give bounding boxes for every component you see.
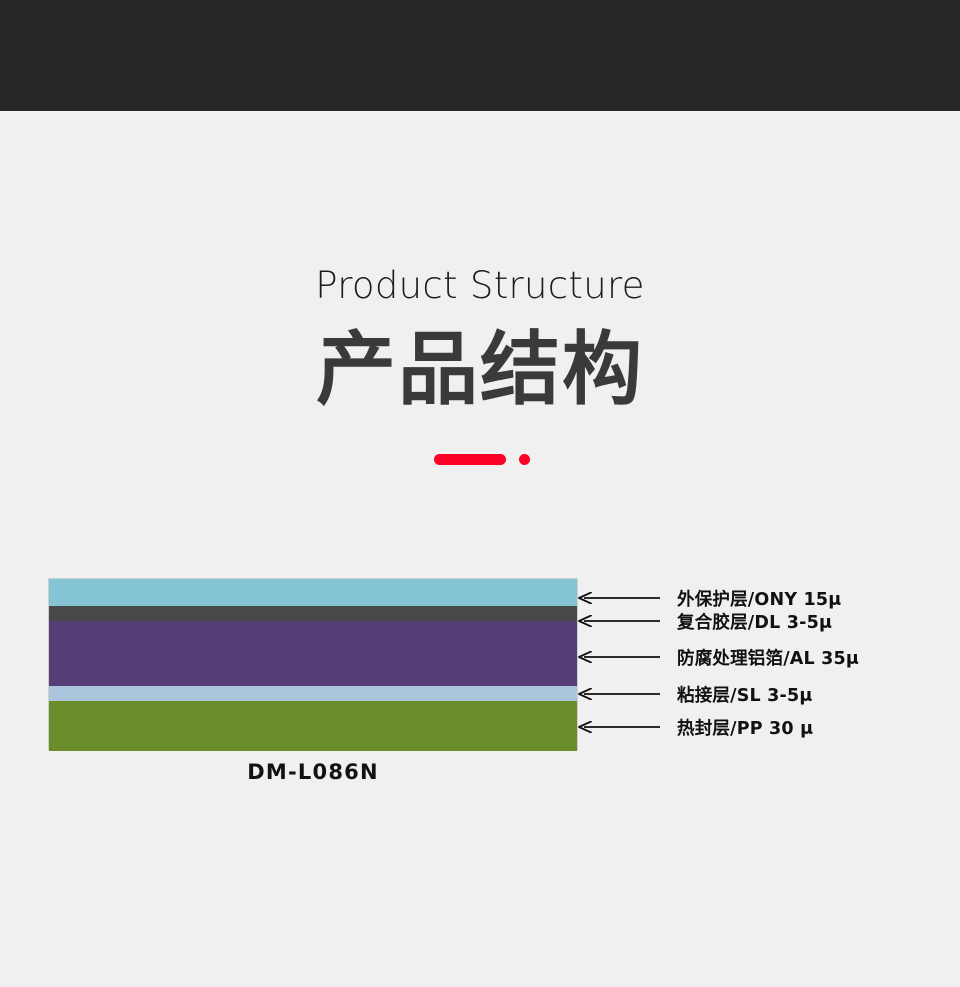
- callout-composite-adhesive-layer: 复合胶层/DL 3-5μ: [578, 609, 832, 633]
- layer-callout-list: 外保护层/ONY 15μ复合胶层/DL 3-5μ防腐处理铝箔/AL 35μ粘接层…: [578, 570, 960, 760]
- arrow-left-icon: [578, 615, 660, 627]
- callout-heat-seal-layer: 热封层/PP 30 μ: [578, 715, 813, 739]
- callout-bonding-layer: 粘接层/SL 3-5μ: [578, 682, 812, 706]
- page-title-english: Product Structure: [0, 263, 960, 309]
- page-title-chinese: 产品结构: [0, 322, 960, 418]
- layer-outer-protective-layer: [49, 579, 577, 606]
- callout-label: 热封层/PP 30 μ: [677, 715, 813, 740]
- callout-label: 复合胶层/DL 3-5μ: [677, 609, 832, 634]
- product-structure-page: Product Structure 产品结构 外保护层/ONY 15μ复合胶层/…: [0, 0, 960, 987]
- layer-composite-adhesive-layer: [49, 606, 577, 621]
- arrow-left-icon: [578, 592, 660, 604]
- divider-dot: [519, 454, 530, 465]
- product-code-label: DM-L086N: [48, 760, 578, 784]
- arrow-left-icon: [578, 688, 660, 700]
- arrow-left-icon: [578, 651, 660, 663]
- layer-heat-seal-layer: [49, 701, 577, 751]
- layer-stack-diagram: [48, 578, 578, 750]
- callout-outer-protective-layer: 外保护层/ONY 15μ: [578, 586, 841, 610]
- divider-bar: [434, 454, 506, 465]
- layer-anticorrosion-aluminium-foil: [49, 621, 577, 686]
- callout-label: 防腐处理铝箔/AL 35μ: [677, 645, 859, 670]
- layer-bonding-layer: [49, 686, 577, 701]
- top-dark-banner: [0, 0, 960, 111]
- callout-anticorrosion-aluminium-foil: 防腐处理铝箔/AL 35μ: [578, 645, 859, 669]
- accent-divider: [434, 454, 530, 466]
- callout-label: 外保护层/ONY 15μ: [677, 586, 841, 611]
- arrow-left-icon: [578, 721, 660, 733]
- callout-label: 粘接层/SL 3-5μ: [677, 682, 812, 707]
